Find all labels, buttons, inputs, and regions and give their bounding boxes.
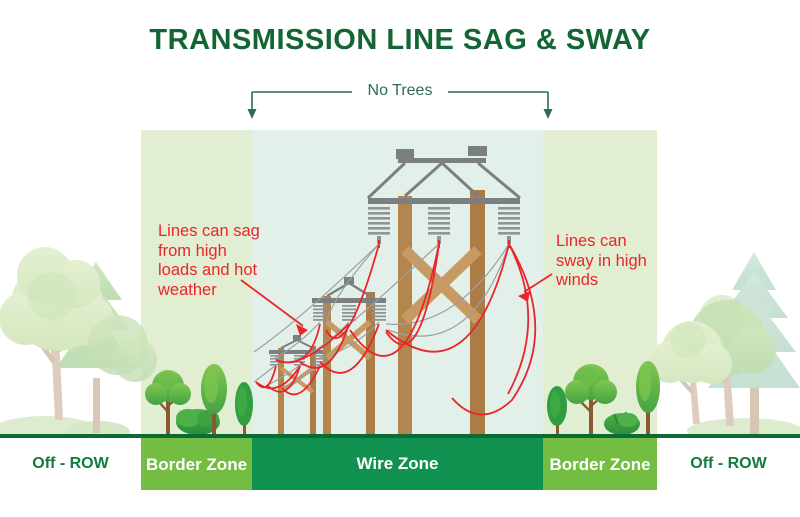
zone-label-wire-zone: Wire Zone: [252, 438, 543, 490]
border-shrubs-left: [145, 364, 253, 436]
shrub-conifer-left: [235, 382, 253, 436]
annotation-sag-text: Lines can sag from high loads and hot we…: [158, 222, 268, 300]
off-row-trees-left: [0, 247, 157, 444]
zone-label-text: Off - ROW: [690, 455, 766, 473]
zone-label-border-zone-left: Border Zone: [141, 438, 252, 490]
off-row-trees-right: [649, 252, 800, 444]
zone-label-text: Border Zone: [146, 455, 247, 474]
no-trees-label: No Trees: [352, 82, 448, 100]
zone-label-border-zone-right: Border Zone: [543, 438, 657, 490]
zone-label-text: Wire Zone: [356, 454, 438, 474]
shrub-bush-right-2: [604, 412, 640, 435]
zone-label-off-row-right: Off - ROW: [657, 438, 800, 490]
zone-label-off-row-left: Off - ROW: [0, 438, 141, 490]
zone-label-text: Border Zone: [549, 455, 650, 474]
border-shrubs-right: [547, 361, 660, 436]
structure-tower-near: [368, 146, 520, 440]
tree-small-faded: [88, 315, 157, 382]
infographic-canvas: TRANSMISSION LINE SAG & SWAY No Trees: [0, 0, 800, 517]
zone-label-text: Off - ROW: [32, 455, 108, 473]
shrub-bush-right-1: [547, 386, 567, 436]
annotation-sway-text: Lines can sway in high winds: [556, 232, 660, 291]
